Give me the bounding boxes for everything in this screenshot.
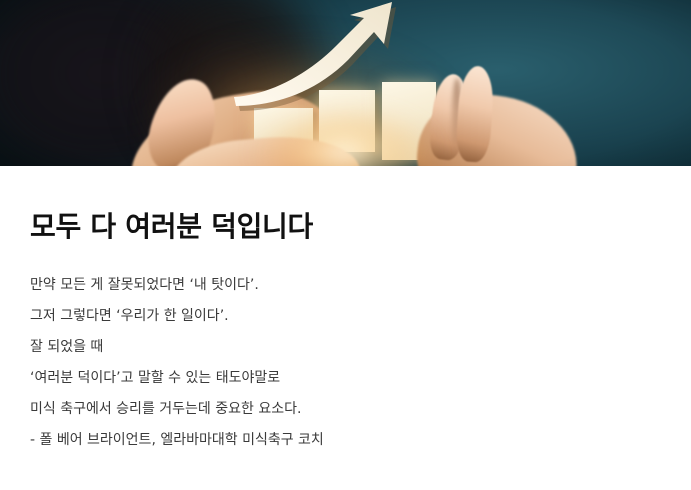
quote-line: 만약 모든 게 잘못되었다면 ‘내 탓이다’. — [30, 270, 661, 301]
quote-line: ‘여러분 덕이다’고 말할 수 있는 태도야말로 — [30, 363, 661, 394]
quote-line: 미식 축구에서 승리를 거두는데 중요한 요소다. — [30, 394, 661, 425]
hero-center-glow — [250, 108, 440, 166]
quote-line: 그저 그렇다면 ‘우리가 한 일이다’. — [30, 301, 661, 332]
hero-image — [0, 0, 691, 166]
page-title: 모두 다 여러분 덕입니다 — [30, 166, 661, 244]
quote-attribution: - 폴 베어 브라이언트, 엘라바마대학 미식축구 코치 — [30, 425, 661, 456]
quote-line: 잘 되었을 때 — [30, 332, 661, 363]
quote-page: 모두 다 여러분 덕입니다 만약 모든 게 잘못되었다면 ‘내 탓이다’. 그저… — [0, 0, 691, 490]
quote-body: 만약 모든 게 잘못되었다면 ‘내 탓이다’. 그저 그렇다면 ‘우리가 한 일… — [30, 244, 661, 456]
rising-arrow-icon — [228, 0, 458, 118]
quote-content: 모두 다 여러분 덕입니다 만약 모든 게 잘못되었다면 ‘내 탓이다’. 그저… — [0, 166, 691, 456]
